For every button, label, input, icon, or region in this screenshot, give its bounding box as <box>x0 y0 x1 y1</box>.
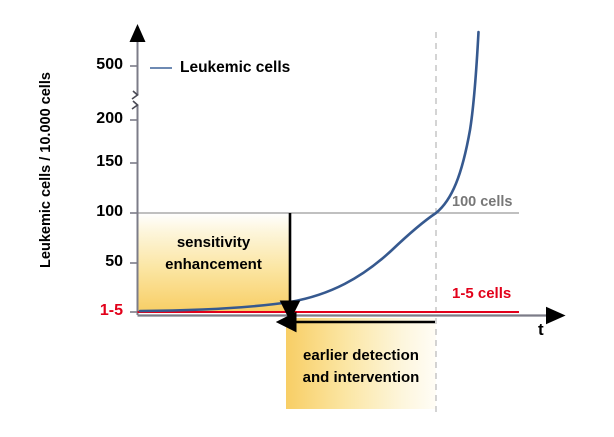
ytick-label-200: 200 <box>78 110 123 129</box>
ytick-label-150: 150 <box>78 153 123 172</box>
x-axis-title: t <box>538 320 544 340</box>
y-axis-title: Leukemic cells / 10.000 cells <box>38 40 64 300</box>
sensitivity-enhancement-label: sensitivity enhancement <box>137 232 290 276</box>
ytick-label-50: 50 <box>78 253 123 272</box>
label-100-cells: 100 cells <box>452 194 512 211</box>
ytick-label-1-5: 1-5 <box>72 302 123 321</box>
legend-label-leukemic-cells: Leukemic cells <box>180 59 290 77</box>
ytick-label-100: 100 <box>78 203 123 222</box>
leukemia-kinetics-chart: Leukemic cells / 10.000 cells 500 200 15… <box>0 0 614 437</box>
earlier-detection-label: earlier detection and intervention <box>286 345 436 389</box>
ytick-label-500: 500 <box>78 56 123 75</box>
label-1-5-cells: 1-5 cells <box>452 285 511 303</box>
